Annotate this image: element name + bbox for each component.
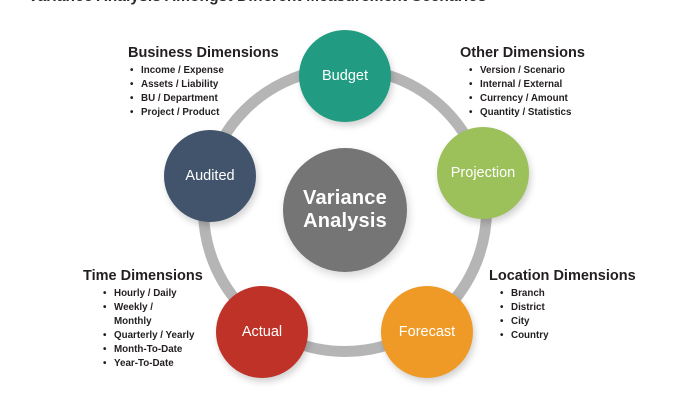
- list-item: •Currency / Amount: [462, 92, 585, 106]
- bullet-icon: •: [103, 343, 106, 357]
- bullet-icon: •: [500, 301, 503, 315]
- list-item: •Internal / External: [462, 78, 585, 92]
- callout-time-dimensions: Time Dimensions •Hourly / Daily•Weekly /…: [83, 268, 203, 370]
- list-item-label: Project / Product: [141, 107, 219, 118]
- list-item: •BU / Department: [128, 92, 279, 106]
- bullet-icon: •: [469, 92, 472, 106]
- center-node-label: Variance Analysis: [283, 187, 407, 233]
- list-item-label: Country: [511, 330, 549, 341]
- callout-other-list: •Version / Scenario•Internal / External•…: [462, 64, 585, 120]
- list-item-label: Internal / External: [480, 79, 562, 90]
- list-item: •Hourly / Daily: [83, 287, 203, 301]
- callout-location-dimensions: Location Dimensions •Branch•District•Cit…: [489, 268, 636, 343]
- bullet-icon: •: [103, 301, 106, 315]
- callout-time-title: Time Dimensions: [83, 268, 203, 284]
- bullet-icon: •: [500, 287, 503, 301]
- list-item-label: Year-To-Date: [114, 358, 174, 369]
- bullet-icon: •: [103, 357, 106, 371]
- callout-location-list: •Branch•District•City•Country: [489, 287, 636, 343]
- list-item: •District: [489, 301, 636, 315]
- list-item: •City: [489, 315, 636, 329]
- list-item-label: Branch: [511, 288, 545, 299]
- list-item-label: Version / Scenario: [480, 65, 565, 76]
- list-item-label: Currency / Amount: [480, 93, 568, 104]
- list-item: •Country: [489, 329, 636, 343]
- bullet-icon: •: [130, 92, 133, 106]
- bullet-icon: •: [130, 106, 133, 120]
- callout-business-list: •Income / Expense•Assets / Liability•BU …: [128, 64, 279, 120]
- list-item-label: District: [511, 302, 545, 313]
- callout-business-title: Business Dimensions: [128, 45, 279, 61]
- node-actual[interactable]: Actual: [216, 286, 308, 378]
- list-item-label: City: [511, 316, 530, 327]
- bullet-icon: •: [103, 287, 106, 301]
- list-item-label: Quantity / Statistics: [480, 107, 571, 118]
- bullet-icon: •: [130, 78, 133, 92]
- list-item: •Year-To-Date: [83, 357, 203, 371]
- node-budget[interactable]: Budget: [299, 30, 391, 122]
- list-item: •Quarterly / Yearly: [83, 329, 203, 343]
- list-item: •Month-To-Date: [83, 343, 203, 357]
- node-audited-label: Audited: [185, 168, 234, 185]
- bullet-icon: •: [469, 78, 472, 92]
- bullet-icon: •: [469, 106, 472, 120]
- node-budget-label: Budget: [322, 68, 368, 85]
- callout-location-title: Location Dimensions: [489, 268, 636, 284]
- page-title: Variance Analysis Amongst Different Meas…: [28, 0, 487, 6]
- node-projection-label: Projection: [451, 165, 515, 182]
- callout-business-dimensions: Business Dimensions •Income / Expense•As…: [128, 45, 279, 120]
- bullet-icon: •: [500, 329, 503, 343]
- list-item: •Assets / Liability: [128, 78, 279, 92]
- list-item-label: Hourly / Daily: [114, 288, 177, 299]
- center-node-variance-analysis: Variance Analysis: [283, 148, 407, 272]
- list-item-label: Quarterly / Yearly: [114, 330, 194, 341]
- node-audited[interactable]: Audited: [164, 130, 256, 222]
- bullet-icon: •: [469, 64, 472, 78]
- list-item: •Weekly / Monthly: [83, 301, 203, 329]
- bullet-icon: •: [130, 64, 133, 78]
- bullet-icon: •: [500, 315, 503, 329]
- list-item-label: Weekly / Monthly: [114, 302, 153, 327]
- node-forecast[interactable]: Forecast: [381, 286, 473, 378]
- bullet-icon: •: [103, 329, 106, 343]
- list-item: •Version / Scenario: [462, 64, 585, 78]
- node-actual-label: Actual: [242, 324, 282, 341]
- node-forecast-label: Forecast: [399, 324, 455, 341]
- list-item: •Quantity / Statistics: [462, 106, 585, 120]
- list-item-label: Assets / Liability: [141, 79, 218, 90]
- callout-time-list: •Hourly / Daily•Weekly / Monthly•Quarter…: [83, 287, 203, 370]
- node-projection[interactable]: Projection: [437, 127, 529, 219]
- list-item-label: Month-To-Date: [114, 344, 182, 355]
- callout-other-title: Other Dimensions: [460, 45, 585, 61]
- list-item-label: Income / Expense: [141, 65, 224, 76]
- list-item-label: BU / Department: [141, 93, 218, 104]
- list-item: •Branch: [489, 287, 636, 301]
- list-item: •Income / Expense: [128, 64, 279, 78]
- list-item: •Project / Product: [128, 106, 279, 120]
- callout-other-dimensions: Other Dimensions •Version / Scenario•Int…: [462, 45, 585, 120]
